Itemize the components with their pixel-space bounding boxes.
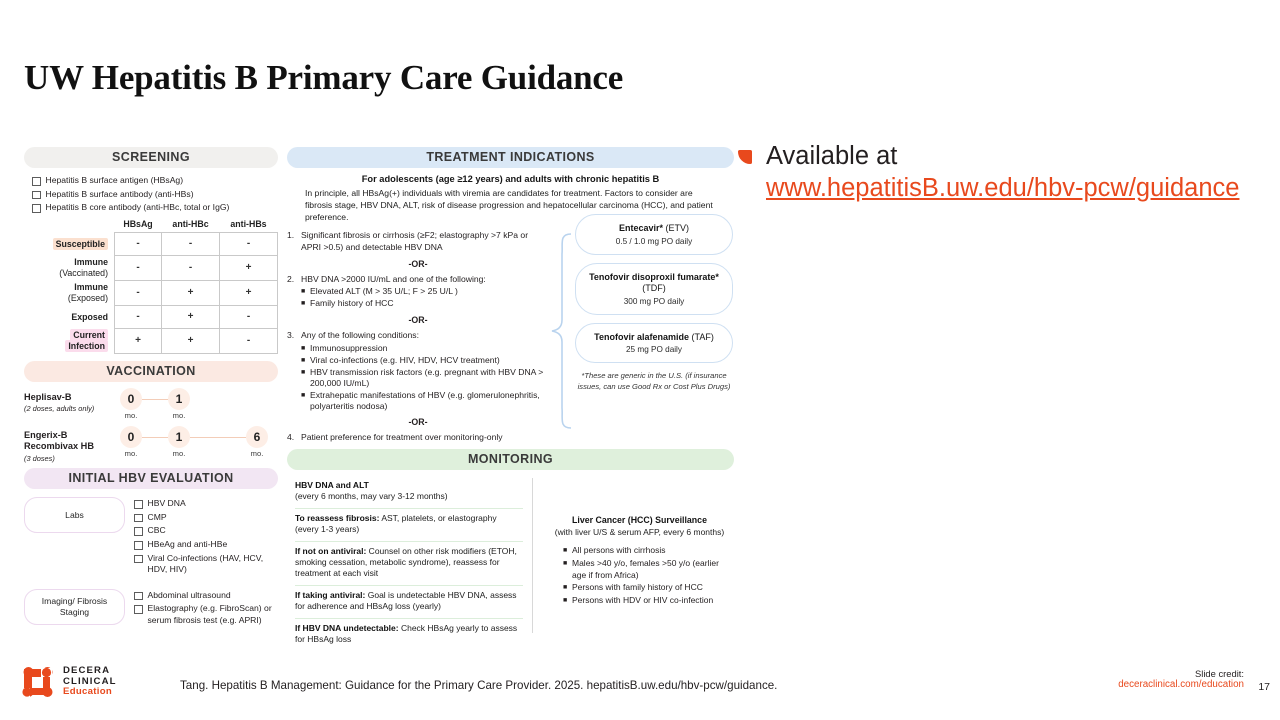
table-cell: + <box>162 305 220 328</box>
available-text: Available at www.hepatitisB.uw.edu/hbv-p… <box>766 140 1239 204</box>
list-item-label: Abdominal ultrasound <box>148 590 231 602</box>
list-item[interactable]: Hepatitis B core antibody (anti-HBc, tot… <box>32 202 278 214</box>
row-label: Susceptible <box>24 232 115 255</box>
screening-checklist: Hepatitis B surface antigen (HBsAg) Hepa… <box>32 175 278 214</box>
logo-line-3: Education <box>63 687 117 698</box>
checkbox-icon[interactable] <box>134 541 143 550</box>
list-item: ■ Persons with HDV or HIV co-infection <box>563 595 734 607</box>
available-at-block: Available at www.hepatitisB.uw.edu/hbv-p… <box>738 140 1258 204</box>
monitoring-item: If taking antiviral: Goal is undetectabl… <box>295 586 523 619</box>
vaccination-schedules: Heplisav-B (2 doses, adults only) 0 mo. … <box>24 388 278 465</box>
column-header: anti-HBc <box>162 217 220 233</box>
list-item: ■ HBV transmission risk factors (e.g. pr… <box>301 367 549 390</box>
table-cell: - <box>220 305 278 328</box>
list-item-label: Persons with family history of HCC <box>572 582 703 594</box>
list-item-label: Elastography (e.g. FibroScan) or serum f… <box>148 603 279 626</box>
row-label: Immune (Vaccinated) <box>24 255 115 280</box>
square-bullet-icon: ■ <box>563 558 572 581</box>
list-item-label: CMP <box>148 512 167 524</box>
table-row: Immune (Exposed) - + + <box>24 280 278 305</box>
row-label-text: Susceptible <box>53 238 108 250</box>
dose-connector-line <box>142 399 168 401</box>
list-item: ■ Males >40 y/o, females >50 y/o (earlie… <box>563 558 734 581</box>
item-number: 2. <box>287 274 301 286</box>
footer-citation: Tang. Hepatitis B Management: Guidance f… <box>180 679 777 692</box>
list-item[interactable]: Elastography (e.g. FibroScan) or serum f… <box>134 603 278 626</box>
evaluation-chip-labs: Labs <box>24 497 125 533</box>
table-row: Exposed - + - <box>24 305 278 328</box>
item-text: Any of the following conditions: <box>301 330 419 342</box>
monitoring-item-label: To reassess fibrosis: <box>295 513 379 523</box>
item-number: 1. <box>287 230 301 253</box>
row-label-text: Immune <box>74 257 108 267</box>
item-number: 4. <box>287 432 301 444</box>
available-label: Available at <box>766 142 897 170</box>
square-bullet-icon: ■ <box>301 355 310 367</box>
dose-unit: mo. <box>168 449 190 458</box>
list-item-label: Hepatitis B surface antigen (HBsAg) <box>46 175 184 187</box>
evaluation-chip-imaging: Imaging/ Fibrosis Staging <box>24 589 125 625</box>
list-item: 1. Significant fibrosis or cirrhosis (≥F… <box>287 230 549 253</box>
dose-unit: mo. <box>120 411 142 420</box>
treatment-subhead: For adolescents (age ≥12 years) and adul… <box>287 174 734 184</box>
hcc-subtitle: (with liver U/S & serum AFP, every 6 mon… <box>545 526 734 538</box>
list-item[interactable]: CMP <box>134 512 278 524</box>
section-header-initial-evaluation: INITIAL HBV EVALUATION <box>24 468 278 489</box>
table-cell: + <box>220 255 278 280</box>
list-item: ■ All persons with cirrhosis <box>563 545 734 557</box>
vaccine-name-text: Heplisav-B <box>24 392 72 402</box>
square-bullet-icon: ■ <box>563 582 572 594</box>
medication-name: Entecavir* (ETV) <box>582 223 726 235</box>
row-label: Immune (Exposed) <box>24 280 115 305</box>
monitoring-item-text: (every 6 months, may vary 3-12 months) <box>295 491 448 501</box>
list-item-label: Viral co-infections (e.g. HIV, HDV, HCV … <box>310 355 500 367</box>
table-cell: - <box>220 232 278 255</box>
monitoring-item-label: If taking antiviral: <box>295 590 365 600</box>
medication-abbr: (ETV) <box>666 223 690 233</box>
square-bullet-icon: ■ <box>301 390 310 413</box>
dose-track: 0 mo. 1 mo. <box>120 388 278 422</box>
list-item-label: Immunosuppression <box>310 343 387 355</box>
vaccine-detail: (2 doses, adults only) <box>24 403 120 415</box>
table-row: Immune (Vaccinated) - - + <box>24 255 278 280</box>
item-text: HBV DNA >2000 IU/mL and one of the follo… <box>301 274 486 286</box>
dose-marker: 1 <box>168 388 190 410</box>
slide-credit: Slide credit: deceraclinical.com/educati… <box>1118 668 1244 690</box>
left-column: SCREENING Hepatitis B surface antigen (H… <box>24 147 278 640</box>
medication-name-text: Tenofovir disoproxil fumarate* <box>589 272 719 282</box>
table-row: Susceptible - - - <box>24 232 278 255</box>
quarter-circle-bullet-icon <box>738 150 752 164</box>
hcc-surveillance-panel: Liver Cancer (HCC) Surveillance (with li… <box>545 514 734 608</box>
evaluation-items: Abdominal ultrasound Elastography (e.g. … <box>134 589 278 629</box>
evaluation-group: Labs HBV DNA CMP CBC HBeAg and anti-HBe <box>24 497 278 578</box>
checkbox-icon[interactable] <box>134 592 143 601</box>
medication-name-text: Tenofovir alafenamide <box>594 332 689 342</box>
list-item-label: CBC <box>148 525 166 537</box>
table-cell: - <box>115 255 162 280</box>
square-bullet-icon: ■ <box>301 367 310 390</box>
table-cell: - <box>115 305 162 328</box>
evaluation-items: HBV DNA CMP CBC HBeAg and anti-HBe Viral… <box>134 497 278 578</box>
table-cell: - <box>162 255 220 280</box>
table-cell: + <box>162 280 220 305</box>
hcc-list: ■ All persons with cirrhosis ■ Males >40… <box>563 545 734 607</box>
slide-credit-label: Slide credit: <box>1118 668 1244 679</box>
decera-logo-wordmark: DECERA CLINICAL Education <box>63 666 117 698</box>
medication-name-text: Entecavir* <box>619 223 663 233</box>
medication-dose: 0.5 / 1.0 mg PO daily <box>582 237 726 246</box>
decera-logo: DECERA CLINICAL Education <box>22 666 117 698</box>
dose-connector-line <box>142 437 168 439</box>
monitoring-items: HBV DNA and ALT (every 6 months, may var… <box>295 476 523 650</box>
table-cell: + <box>115 328 162 353</box>
list-item: ■ Viral co-infections (e.g. HIV, HDV, HC… <box>301 355 549 367</box>
decera-logo-mark-icon <box>22 666 54 698</box>
medication-box: Tenofovir alafenamide (TAF) 25 mg PO dai… <box>575 323 733 364</box>
list-item-label: Males >40 y/o, females >50 y/o (earlier … <box>572 558 734 581</box>
table-cell: + <box>220 280 278 305</box>
medication-footnote: *These are generic in the U.S. (if insur… <box>575 371 733 392</box>
row-label: Current Infection <box>24 328 115 353</box>
dose-track: 0 mo. 1 mo. 6 mo. <box>120 426 278 460</box>
table-cell: + <box>162 328 220 353</box>
column-divider <box>532 478 533 633</box>
row-label-text: Exposed <box>71 312 108 322</box>
monitoring-item: If HBV DNA undetectable: Check HBsAg yea… <box>295 619 523 651</box>
list-item-label: All persons with cirrhosis <box>572 545 666 557</box>
dose-unit: mo. <box>246 449 268 458</box>
table-cell: - <box>162 232 220 255</box>
item-text: Significant fibrosis or cirrhosis (≥F2; … <box>301 230 549 253</box>
row-label-text: Immune <box>74 282 108 292</box>
section-header-monitoring: MONITORING <box>287 449 734 470</box>
list-item-label: Elevated ALT (M > 35 U/L; F > 25 U/L ) <box>310 286 458 298</box>
list-item[interactable]: HBV DNA <box>134 498 278 510</box>
dose-connector-line <box>190 437 246 439</box>
hcc-title: Liver Cancer (HCC) Surveillance <box>545 514 734 526</box>
section-header-treatment: TREATMENT INDICATIONS <box>287 147 734 168</box>
dose-marker: 6 <box>246 426 268 448</box>
dose-unit: mo. <box>120 449 142 458</box>
checkbox-icon[interactable] <box>134 555 143 564</box>
list-item[interactable]: Viral Co-infections (HAV, HCV, HDV, HIV) <box>134 553 278 576</box>
dose-marker: 0 <box>120 388 142 410</box>
list-item: ■ Immunosuppression <box>301 343 549 355</box>
list-item: ■ Family history of HCC <box>301 298 549 310</box>
dose-unit: mo. <box>168 411 190 420</box>
table-corner-cell <box>24 217 115 233</box>
checkbox-icon[interactable] <box>134 605 143 614</box>
vaccine-name: Engerix-B Recombivax HB (3 doses) <box>24 426 120 465</box>
medication-name: Tenofovir disoproxil fumarate* (TDF) <box>582 272 726 295</box>
list-item-label: Persons with HDV or HIV co-infection <box>572 595 713 607</box>
checkbox-icon[interactable] <box>134 514 143 523</box>
row-label-sub: Infection <box>65 340 108 352</box>
medication-abbr: (TDF) <box>642 283 666 293</box>
medication-box: Tenofovir disoproxil fumarate* (TDF) 300… <box>575 263 733 315</box>
medication-box: Entecavir* (ETV) 0.5 / 1.0 mg PO daily <box>575 214 733 255</box>
or-separator: -OR- <box>287 417 549 427</box>
table-cell: - <box>115 232 162 255</box>
list-item-label: Viral Co-infections (HAV, HCV, HDV, HIV) <box>148 553 279 576</box>
screening-table: HBsAg anti-HBc anti-HBs Susceptible - - … <box>24 217 278 354</box>
medication-name: Tenofovir alafenamide (TAF) <box>582 332 726 344</box>
monitoring-content: HBV DNA and ALT (every 6 months, may var… <box>287 476 734 641</box>
slide-credit-link[interactable]: deceraclinical.com/education <box>1118 679 1244 690</box>
checkbox-icon[interactable] <box>134 527 143 536</box>
or-separator: -OR- <box>287 315 549 325</box>
list-item: 3. Any of the following conditions: <box>287 330 549 342</box>
medication-abbr: (TAF) <box>692 332 714 342</box>
list-item: ■ Elevated ALT (M > 35 U/L; F > 25 U/L ) <box>301 286 549 298</box>
page-title: UW Hepatitis B Primary Care Guidance <box>24 58 623 98</box>
monitoring-item: HBV DNA and ALT (every 6 months, may var… <box>295 476 523 509</box>
column-header: HBsAg <box>115 217 162 233</box>
monitoring-item-label: If HBV DNA undetectable: <box>295 623 399 633</box>
column-header: anti-HBs <box>220 217 278 233</box>
checkbox-icon[interactable] <box>32 191 41 200</box>
table-row: Current Infection + + - <box>24 328 278 353</box>
list-item: 4. Patient preference for treatment over… <box>287 432 549 444</box>
table-header-row: HBsAg anti-HBc anti-HBs <box>24 217 278 233</box>
row-label-sub: (Exposed) <box>68 293 108 303</box>
list-item[interactable]: Abdominal ultrasound <box>134 590 278 602</box>
medication-list: Entecavir* (ETV) 0.5 / 1.0 mg PO daily T… <box>575 214 733 392</box>
square-bullet-icon: ■ <box>563 595 572 607</box>
square-bullet-icon: ■ <box>301 286 310 298</box>
monitoring-item-label: HBV DNA and ALT <box>295 480 369 490</box>
list-item[interactable]: Hepatitis B surface antigen (HBsAg) <box>32 175 278 187</box>
item-number: 3. <box>287 330 301 342</box>
row-label-sub: (Vaccinated) <box>59 268 108 278</box>
vaccination-row: Heplisav-B (2 doses, adults only) 0 mo. … <box>24 388 278 422</box>
list-item-label: HBV DNA <box>148 498 186 510</box>
list-item-label: Extrahepatic manifestations of HBV (e.g.… <box>310 390 549 413</box>
item-text: Patient preference for treatment over mo… <box>301 432 503 444</box>
monitoring-item: To reassess fibrosis: AST, platelets, or… <box>295 509 523 542</box>
dose-marker: 1 <box>168 426 190 448</box>
list-item-label: Family history of HCC <box>310 298 394 310</box>
list-item: ■ Persons with family history of HCC <box>563 582 734 594</box>
list-item[interactable]: CBC <box>134 525 278 537</box>
list-item: 2. HBV DNA >2000 IU/mL and one of the fo… <box>287 274 549 286</box>
square-bullet-icon: ■ <box>301 343 310 355</box>
list-item-label: Hepatitis B core antibody (anti-HBc, tot… <box>46 202 230 214</box>
square-bullet-icon: ■ <box>301 298 310 310</box>
table-cell: - <box>115 280 162 305</box>
list-item-label: HBV transmission risk factors (e.g. preg… <box>310 367 549 390</box>
brace-connector <box>549 232 575 437</box>
sub-bullet-list: ■ Elevated ALT (M > 35 U/L; F > 25 U/L )… <box>301 286 549 310</box>
row-label: Exposed <box>24 305 115 328</box>
or-separator: -OR- <box>287 259 549 269</box>
treatment-indication-list: 1. Significant fibrosis or cirrhosis (≥F… <box>287 230 549 444</box>
checkbox-icon[interactable] <box>32 204 41 213</box>
medication-dose: 25 mg PO daily <box>582 345 726 354</box>
checkbox-icon[interactable] <box>32 177 41 186</box>
vaccination-row: Engerix-B Recombivax HB (3 doses) 0 mo. … <box>24 426 278 465</box>
evaluation-group: Imaging/ Fibrosis Staging Abdominal ultr… <box>24 589 278 629</box>
monitoring-item-label: If not on antiviral: <box>295 546 366 556</box>
list-item[interactable]: Hepatitis B surface antibody (anti-HBs) <box>32 189 278 201</box>
vaccine-detail: (3 doses) <box>24 453 120 465</box>
guidance-link[interactable]: www.hepatitisB.uw.edu/hbv-pcw/guidance <box>766 172 1239 204</box>
checkbox-icon[interactable] <box>134 500 143 509</box>
initial-evaluation-groups: Labs HBV DNA CMP CBC HBeAg and anti-HBe <box>24 497 278 628</box>
section-header-vaccination: VACCINATION <box>24 361 278 382</box>
list-item-label: Hepatitis B surface antibody (anti-HBs) <box>46 189 194 201</box>
list-item[interactable]: HBeAg and anti-HBe <box>134 539 278 551</box>
page-number: 17 <box>1258 681 1270 693</box>
vaccine-name-text: Engerix-B Recombivax HB <box>24 430 94 452</box>
list-item: ■ Extrahepatic manifestations of HBV (e.… <box>301 390 549 413</box>
monitoring-item: If not on antiviral: Counsel on other ri… <box>295 542 523 586</box>
section-header-screening: SCREENING <box>24 147 278 168</box>
vaccine-name: Heplisav-B (2 doses, adults only) <box>24 388 120 415</box>
sub-bullet-list: ■ Immunosuppression ■ Viral co-infection… <box>301 343 549 413</box>
list-item-label: HBeAg and anti-HBe <box>148 539 228 551</box>
square-bullet-icon: ■ <box>563 545 572 557</box>
right-column: Available at www.hepatitisB.uw.edu/hbv-p… <box>738 140 1258 204</box>
table-cell: - <box>220 328 278 353</box>
dose-marker: 0 <box>120 426 142 448</box>
middle-column: TREATMENT INDICATIONS For adolescents (a… <box>287 147 734 641</box>
medication-dose: 300 mg PO daily <box>582 297 726 306</box>
